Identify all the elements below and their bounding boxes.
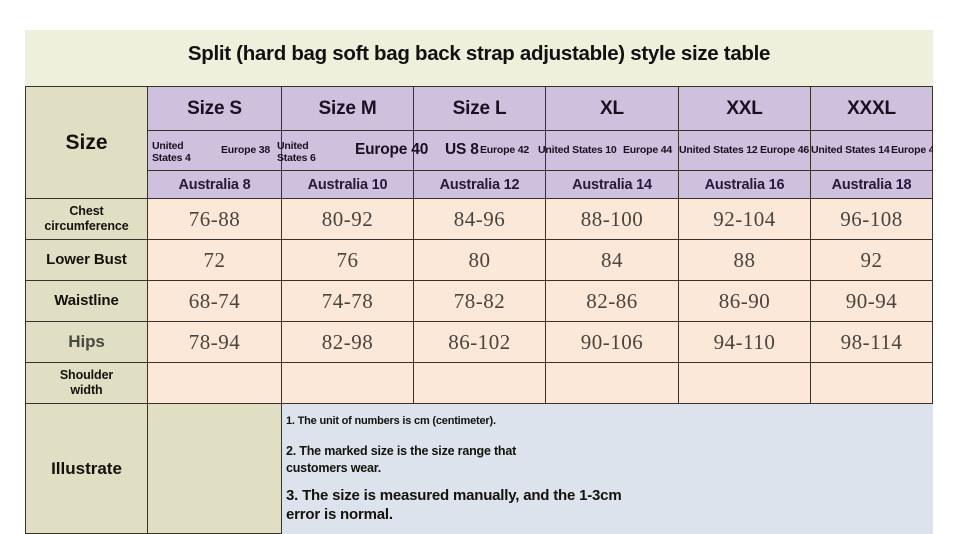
row-label-4: Hips — [25, 322, 148, 363]
header-size-6[interactable]: XXXL — [811, 86, 933, 131]
header-region-3 — [414, 131, 546, 171]
cell-value: 80-92 — [322, 207, 374, 232]
cell-r4-c2: 82-98 — [282, 322, 414, 363]
header-size-label: XL — [600, 98, 624, 120]
illustrate-label-cell: Illustrate — [25, 404, 148, 534]
cell-r1-c6: 96-108 — [811, 199, 933, 240]
row-label-text: Hips — [68, 332, 104, 352]
cell-r5-c3 — [414, 363, 546, 404]
header-size-label: Size L — [453, 98, 507, 120]
cell-r3-c4: 82-86 — [546, 281, 679, 322]
cell-value: 90-94 — [846, 289, 898, 314]
header-region-4 — [546, 131, 679, 171]
cell-value: 86-102 — [448, 330, 511, 355]
corner-size-text: Size — [65, 131, 107, 155]
cell-r3-c1: 68-74 — [148, 281, 282, 322]
header-region-6 — [811, 131, 933, 171]
cell-r4-c3: 86-102 — [414, 322, 546, 363]
cell-value: 90-106 — [581, 330, 644, 355]
header-australia-5: Australia 16 — [679, 171, 811, 199]
header-australia-4: Australia 14 — [546, 171, 679, 199]
header-size-4[interactable]: XL — [546, 86, 679, 131]
cell-value: 82-98 — [322, 330, 374, 355]
illustrate-note-1: 1. The unit of numbers is cm (centimeter… — [286, 414, 933, 429]
cell-value: 84-96 — [454, 207, 506, 232]
header-region-1 — [148, 131, 282, 171]
cell-r5-c4 — [546, 363, 679, 404]
cell-value: 76-88 — [189, 207, 241, 232]
cell-r5-c2 — [282, 363, 414, 404]
row-label-text: Chest circumference — [44, 204, 128, 234]
cell-r1-c1: 76-88 — [148, 199, 282, 240]
row-label-5: Shoulder width — [25, 363, 148, 404]
cell-value: 76 — [337, 248, 359, 273]
header-australia-label: Australia 18 — [832, 177, 912, 193]
size-chart-sheet: Split (hard bag soft bag back strap adju… — [25, 30, 933, 534]
cell-r4-c5: 94-110 — [679, 322, 811, 363]
header-size-5[interactable]: XXL — [679, 86, 811, 131]
illustrate-notes-panel: 1. The unit of numbers is cm (centimeter… — [282, 404, 933, 534]
row-label-text: Shoulder width — [60, 368, 113, 398]
cell-value: 92 — [861, 248, 883, 273]
header-australia-1: Australia 8 — [148, 171, 282, 199]
cell-r1-c5: 92-104 — [679, 199, 811, 240]
cell-r2-c2: 76 — [282, 240, 414, 281]
header-size-label: XXL — [726, 98, 762, 120]
cell-value: 82-86 — [586, 289, 638, 314]
cell-value: 74-78 — [322, 289, 374, 314]
row-label-text: Waistline — [54, 292, 118, 310]
cell-r3-c3: 78-82 — [414, 281, 546, 322]
header-australia-label: Australia 14 — [572, 177, 652, 193]
header-australia-label: Australia 10 — [308, 177, 388, 193]
cell-r3-c5: 86-90 — [679, 281, 811, 322]
illustrate-label-text: Illustrate — [51, 459, 122, 479]
cell-r1-c4: 88-100 — [546, 199, 679, 240]
cell-value: 84 — [601, 248, 623, 273]
cell-r5-c5 — [679, 363, 811, 404]
size-table: SizeSize SAustralia 8Size MAustralia 10S… — [25, 86, 933, 534]
corner-size-label: Size — [25, 86, 148, 199]
cell-r2-c5: 88 — [679, 240, 811, 281]
row-label-text: Lower Bust — [46, 251, 127, 269]
cell-value: 72 — [204, 248, 226, 273]
cell-value: 80 — [469, 248, 491, 273]
cell-value: 78-82 — [454, 289, 506, 314]
cell-r2-c6: 92 — [811, 240, 933, 281]
header-australia-2: Australia 10 — [282, 171, 414, 199]
header-size-1[interactable]: Size S — [148, 86, 282, 131]
illustrate-blank-cell — [148, 404, 282, 534]
row-label-1: Chest circumference — [25, 199, 148, 240]
cell-value: 78-94 — [189, 330, 241, 355]
cell-r4-c6: 98-114 — [811, 322, 933, 363]
cell-value: 86-90 — [719, 289, 771, 314]
cell-r5-c1 — [148, 363, 282, 404]
cell-value: 88-100 — [581, 207, 644, 232]
header-australia-label: Australia 8 — [179, 177, 251, 193]
header-size-label: XXXL — [847, 98, 896, 120]
cell-r4-c4: 90-106 — [546, 322, 679, 363]
header-size-label: Size S — [187, 98, 242, 120]
cell-r1-c3: 84-96 — [414, 199, 546, 240]
cell-value: 88 — [734, 248, 756, 273]
cell-r3-c6: 90-94 — [811, 281, 933, 322]
illustrate-note-3: 3. The size is measured manually, and th… — [286, 486, 933, 525]
header-australia-label: Australia 16 — [705, 177, 785, 193]
cell-r2-c4: 84 — [546, 240, 679, 281]
illustrate-note-2: 2. The marked size is the size range tha… — [286, 443, 933, 477]
header-size-2[interactable]: Size M — [282, 86, 414, 131]
header-size-3[interactable]: Size L — [414, 86, 546, 131]
header-region-2 — [282, 131, 414, 171]
cell-r1-c2: 80-92 — [282, 199, 414, 240]
cell-r2-c3: 80 — [414, 240, 546, 281]
row-label-3: Waistline — [25, 281, 148, 322]
header-australia-6: Australia 18 — [811, 171, 933, 199]
header-size-label: Size M — [319, 98, 377, 120]
row-label-2: Lower Bust — [25, 240, 148, 281]
cell-value: 68-74 — [189, 289, 241, 314]
cell-value: 92-104 — [713, 207, 776, 232]
cell-r2-c1: 72 — [148, 240, 282, 281]
header-region-5 — [679, 131, 811, 171]
cell-value: 94-110 — [714, 330, 776, 355]
header-australia-label: Australia 12 — [440, 177, 520, 193]
cell-r5-c6 — [811, 363, 933, 404]
header-australia-3: Australia 12 — [414, 171, 546, 199]
cell-value: 98-114 — [841, 330, 903, 355]
cell-value: 96-108 — [840, 207, 903, 232]
cell-r4-c1: 78-94 — [148, 322, 282, 363]
cell-r3-c2: 74-78 — [282, 281, 414, 322]
page-title: Split (hard bag soft bag back strap adju… — [25, 42, 933, 66]
